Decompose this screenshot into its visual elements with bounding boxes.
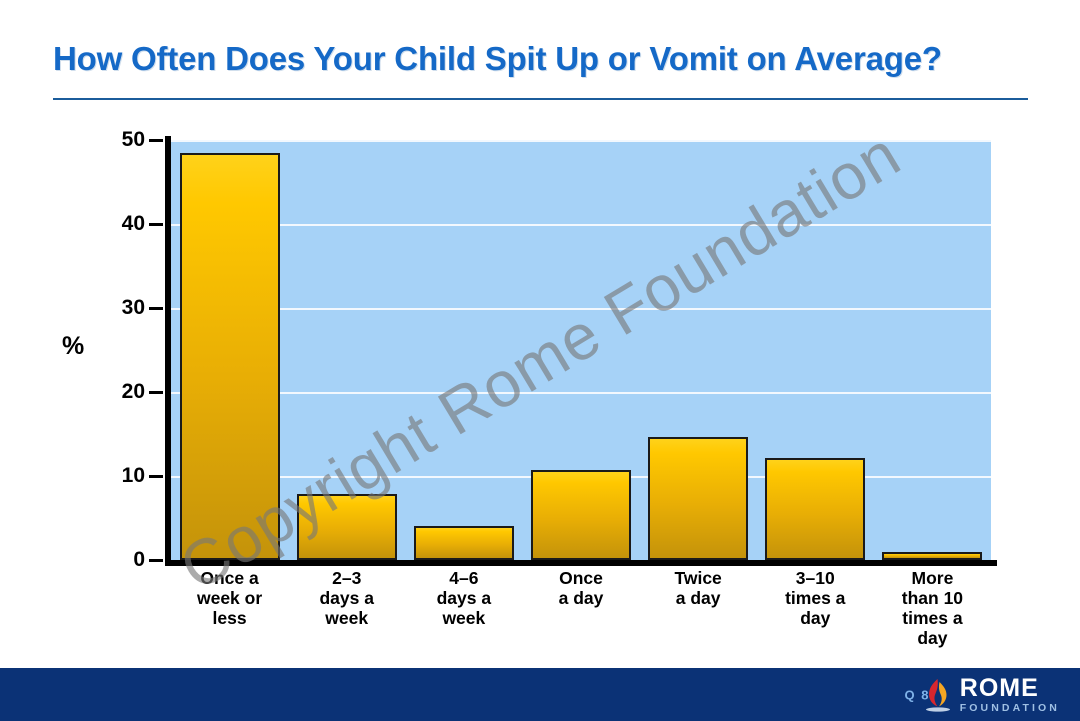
footer-banner: Q 8 ROME FOUNDATION (0, 668, 1080, 721)
y-tick-label: 20 (85, 380, 145, 404)
y-tick (149, 391, 163, 394)
y-tick-label: 10 (85, 464, 145, 488)
y-tick-label: 50 (85, 128, 145, 152)
gridline (171, 224, 991, 226)
x-tick-label: Once a week or less (171, 568, 288, 628)
gridline (171, 308, 991, 310)
y-tick (149, 223, 163, 226)
x-axis-line (165, 560, 997, 566)
logo-foundation-text: FOUNDATION (960, 703, 1060, 714)
title-divider (53, 98, 1028, 100)
logo-wordmark: ROME FOUNDATION (960, 676, 1060, 714)
y-tick (149, 475, 163, 478)
x-tick-label: 3–10 times a day (757, 568, 874, 628)
y-axis-line (165, 136, 171, 564)
y-tick (149, 139, 163, 142)
bar (882, 552, 982, 560)
y-tick-label: 40 (85, 212, 145, 236)
y-tick (149, 307, 163, 310)
logo-rome-text: ROME (960, 676, 1060, 701)
x-tick-label: 2–3 days a week (288, 568, 405, 628)
page-title: How Often Does Your Child Spit Up or Vom… (53, 40, 1028, 78)
y-tick (149, 559, 163, 562)
x-tick-label: Twice a day (640, 568, 757, 608)
rome-foundation-logo: ROME FOUNDATION (923, 676, 1060, 714)
y-axis-title: % (62, 332, 84, 361)
bar (648, 437, 748, 560)
y-tick-label: 0 (85, 548, 145, 572)
x-tick-label: Once a day (522, 568, 639, 608)
gridline (171, 392, 991, 394)
bar-chart: % 01020304050 Once a week or less2–3 day… (0, 110, 1080, 660)
x-tick-label: More than 10 times a day (874, 568, 991, 648)
y-tick-label: 30 (85, 296, 145, 320)
plot-area (171, 140, 991, 560)
x-tick-label: 4–6 days a week (405, 568, 522, 628)
bar (414, 526, 514, 560)
bar (180, 153, 280, 560)
flame-icon (923, 676, 953, 714)
bar (297, 494, 397, 560)
bar (531, 470, 631, 560)
bar (765, 458, 865, 560)
gridline (171, 140, 991, 142)
slide-root: How Often Does Your Child Spit Up or Vom… (0, 0, 1080, 721)
